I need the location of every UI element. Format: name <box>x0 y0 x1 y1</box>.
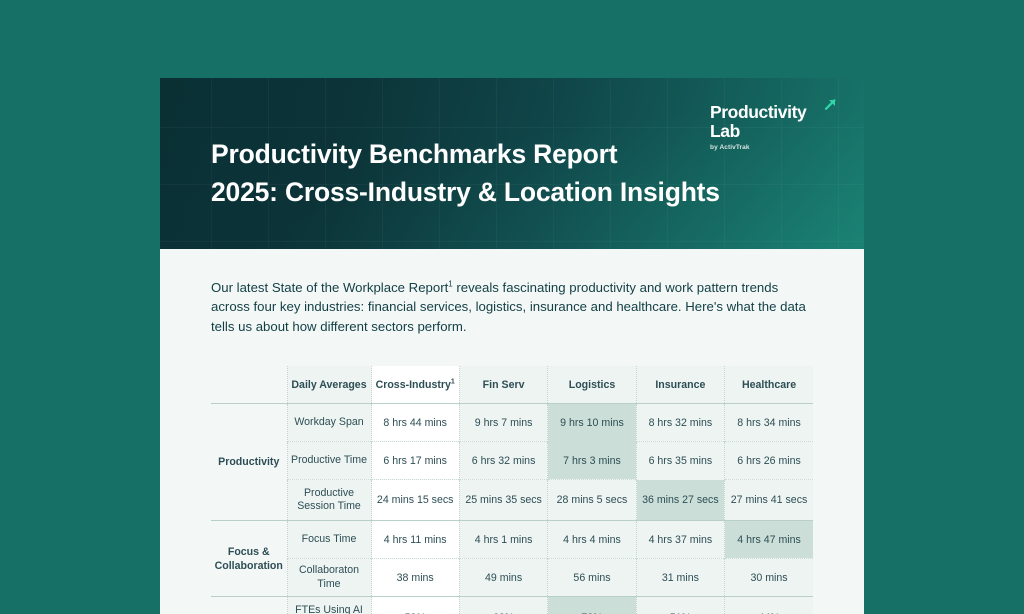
cell-cross-industry: 6 hrs 17 mins <box>371 442 459 480</box>
row-group-label-productivity: Productivity <box>211 404 287 521</box>
intro-paragraph: Our latest State of the Workplace Report… <box>211 278 811 336</box>
cell-fin-serv: 49 mins <box>459 559 547 597</box>
cell-healthcare: 44% <box>725 597 813 614</box>
intro-text-a: Our latest State of the Workplace Report <box>211 280 448 295</box>
cell-insurance: 51% <box>636 597 724 614</box>
cell-insurance: 36 mins 27 secs <box>636 480 724 521</box>
page-title: Productivity Benchmarks Report 2025: Cro… <box>211 135 720 211</box>
cell-cross-industry: 58% <box>371 597 459 614</box>
table-body: Productivity Workday Span 8 hrs 44 mins … <box>211 404 813 614</box>
cell-healthcare: 4 hrs 47 mins <box>725 521 813 559</box>
table-header-row: Daily Averages Cross-Industry1 Fin Serv … <box>211 366 813 404</box>
column-header-cross-industry-footnote: 1 <box>451 378 455 385</box>
metric-label: FTEs Using AI Tools <box>287 597 371 614</box>
metric-label: Productive Session Time <box>287 480 371 521</box>
cell-fin-serv: 4 hrs 1 mins <box>459 521 547 559</box>
cell-logistics: 7 hrs 3 mins <box>548 442 636 480</box>
cell-fin-serv: 9 hrs 7 mins <box>459 404 547 442</box>
table-header: Daily Averages Cross-Industry1 Fin Serv … <box>211 366 813 404</box>
page-root: Productivity Benchmarks Report 2025: Cro… <box>0 0 1024 614</box>
page-title-line-1: Productivity Benchmarks Report <box>211 139 617 169</box>
cell-insurance: 4 hrs 37 mins <box>636 521 724 559</box>
logo-wordmark-line-1: Productivity <box>710 103 836 122</box>
table-row: Collaboraton Time 38 mins 49 mins 56 min… <box>211 559 813 597</box>
column-header-category <box>211 366 287 404</box>
logo-byline: by ActivTrak <box>710 144 836 151</box>
cell-fin-serv: 62% <box>459 597 547 614</box>
cell-insurance: 6 hrs 35 mins <box>636 442 724 480</box>
hero-banner: Productivity Benchmarks Report 2025: Cro… <box>160 78 864 249</box>
card-body: Our latest State of the Workplace Report… <box>160 278 864 614</box>
table-row: Focus & Collaboration Focus Time 4 hrs 1… <box>211 521 813 559</box>
page-title-line-2: 2025: Cross-Industry & Location Insights <box>211 173 720 211</box>
cell-cross-industry: 38 mins <box>371 559 459 597</box>
column-header-fin-serv: Fin Serv <box>459 366 547 404</box>
benchmarks-table: Daily Averages Cross-Industry1 Fin Serv … <box>211 366 813 614</box>
column-header-cross-industry: Cross-Industry1 <box>371 366 459 404</box>
cell-cross-industry: 8 hrs 44 mins <box>371 404 459 442</box>
logo-wordmark-productivity: Productivity <box>710 102 806 122</box>
report-card: Productivity Benchmarks Report 2025: Cro… <box>160 78 864 614</box>
row-group-label-focus-collaboration: Focus & Collaboration <box>211 521 287 597</box>
cell-logistics: 28 mins 5 secs <box>548 480 636 521</box>
cell-cross-industry: 24 mins 15 secs <box>371 480 459 521</box>
cell-healthcare: 8 hrs 34 mins <box>725 404 813 442</box>
row-group-label-empty <box>211 597 287 614</box>
cell-fin-serv: 25 mins 35 secs <box>459 480 547 521</box>
table-row: Productive Session Time 24 mins 15 secs … <box>211 480 813 521</box>
column-header-cross-industry-label: Cross-Industry <box>376 379 451 391</box>
column-header-insurance: Insurance <box>636 366 724 404</box>
cell-cross-industry: 4 hrs 11 mins <box>371 521 459 559</box>
metric-label: Focus Time <box>287 521 371 559</box>
brand-logo: Productivity Lab by ActivTrak <box>710 103 836 151</box>
cell-logistics: 72% <box>548 597 636 614</box>
metric-label: Workday Span <box>287 404 371 442</box>
cell-logistics: 9 hrs 10 mins <box>548 404 636 442</box>
metric-label: Collaboraton Time <box>287 559 371 597</box>
cell-healthcare: 27 mins 41 secs <box>725 480 813 521</box>
cell-healthcare: 30 mins <box>725 559 813 597</box>
table-row: Productivity Workday Span 8 hrs 44 mins … <box>211 404 813 442</box>
cell-insurance: 8 hrs 32 mins <box>636 404 724 442</box>
arrow-up-right-icon <box>823 97 838 112</box>
cell-logistics: 4 hrs 4 mins <box>548 521 636 559</box>
column-header-logistics: Logistics <box>548 366 636 404</box>
column-header-daily-averages: Daily Averages <box>287 366 371 404</box>
column-header-healthcare: Healthcare <box>725 366 813 404</box>
logo-wordmark-lab: Lab <box>710 122 836 141</box>
cell-healthcare: 6 hrs 26 mins <box>725 442 813 480</box>
table-row: FTEs Using AI Tools 58% 62% 72% 51% 44% <box>211 597 813 614</box>
table-row: Productive Time 6 hrs 17 mins 6 hrs 32 m… <box>211 442 813 480</box>
cell-fin-serv: 6 hrs 32 mins <box>459 442 547 480</box>
cell-insurance: 31 mins <box>636 559 724 597</box>
metric-label: Productive Time <box>287 442 371 480</box>
cell-logistics: 56 mins <box>548 559 636 597</box>
